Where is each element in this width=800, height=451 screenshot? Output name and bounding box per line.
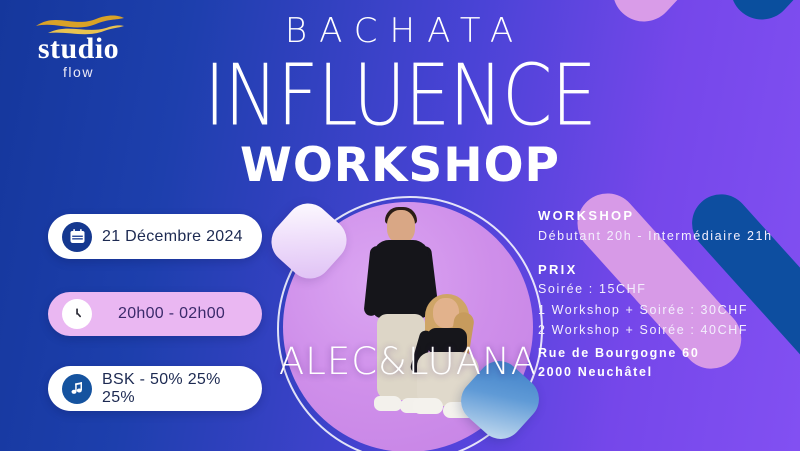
page-title: BACHATA INFLUENCE WORKSHOP [140, 14, 660, 189]
artist-names: ALEC&LUANA [268, 340, 548, 383]
event-details: WORKSHOP Débutant 20h - Intermédiaire 21… [538, 206, 773, 340]
logo-studio-text: studio [16, 34, 141, 64]
badge-time-label: 20h00 - 02h00 [118, 305, 225, 323]
workshop-detail: Débutant 20h - Intermédiaire 21h [538, 226, 773, 246]
badge-time[interactable]: 20h00 - 02h00 [48, 292, 262, 336]
music-note-icon [62, 374, 92, 404]
badge-date-label: 21 Décembre 2024 [102, 228, 243, 246]
badge-date[interactable]: 21 Décembre 2024 [48, 214, 262, 259]
address-line-1: Rue de Bourgogne 60 [538, 344, 699, 363]
workshop-heading: WORKSHOP [538, 206, 773, 226]
studio-flow-logo[interactable]: studio flow [16, 12, 141, 82]
price-heading: PRIX [538, 260, 773, 280]
event-flyer: ALEC&LUANA studio flow BACHATA INFLUENCE… [0, 0, 800, 451]
address-line-2: 2000 Neuchâtel [538, 363, 699, 382]
title-line-workshop: WORKSHOP [140, 142, 660, 189]
clock-icon [62, 299, 92, 329]
venue-address: Rue de Bourgogne 60 2000 Neuchâtel [538, 344, 699, 383]
badge-music-label: BSK - 50% 25% 25% [102, 371, 254, 407]
price-option-1: Soirée : 15CHF [538, 279, 773, 299]
badge-music[interactable]: BSK - 50% 25% 25% [48, 366, 262, 411]
decorative-bar-top-blue [718, 0, 800, 32]
calendar-icon [62, 222, 92, 252]
title-line-influence: INFLUENCE [140, 56, 660, 134]
price-option-3: 2 Workshop + Soirée : 40CHF [538, 320, 773, 340]
price-option-2: 1 Workshop + Soirée : 30CHF [538, 300, 773, 320]
title-line-bachata: BACHATA [150, 14, 660, 48]
logo-flow-text: flow [16, 64, 141, 80]
